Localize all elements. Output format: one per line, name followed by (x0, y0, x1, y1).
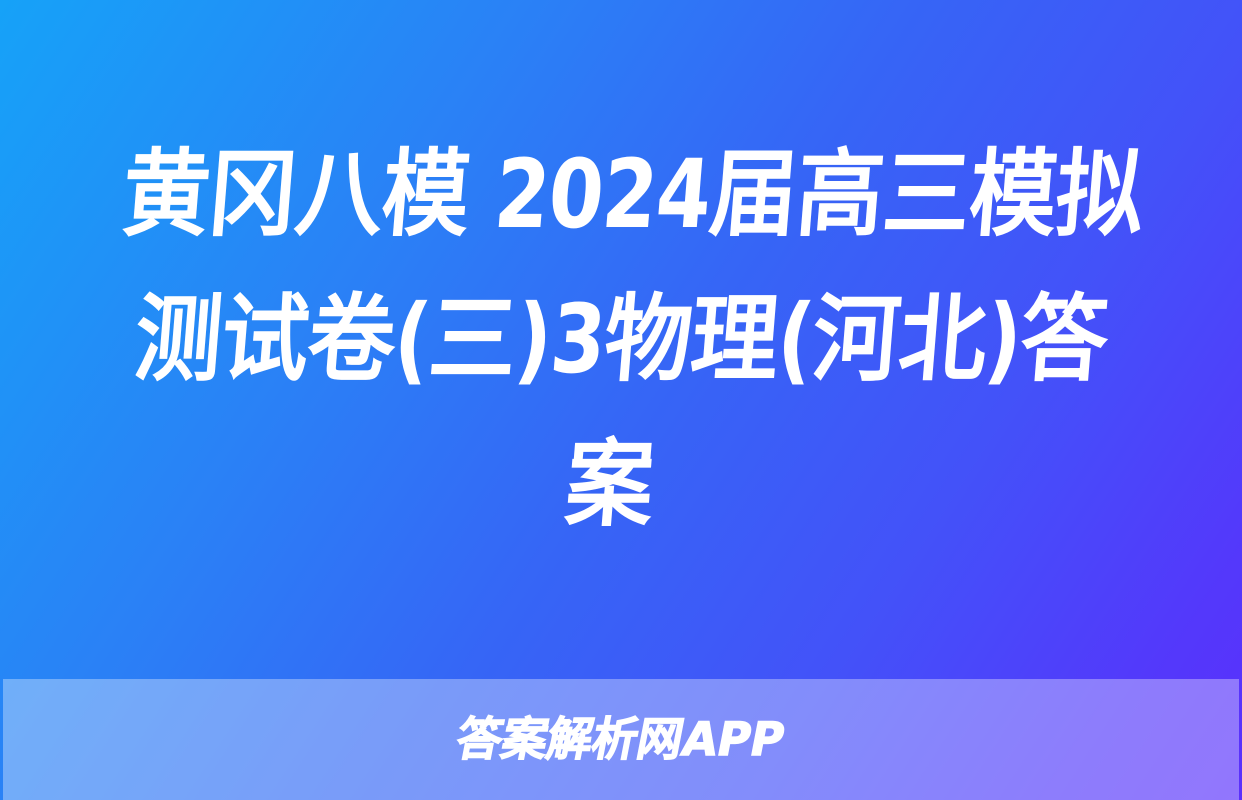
promo-card: 黄冈八模 2024届高三模拟测试卷(三)3物理(河北)答案 答案解析网APP (0, 0, 1242, 800)
title-area: 黄冈八模 2024届高三模拟测试卷(三)3物理(河北)答案 (0, 0, 1242, 680)
page-title: 黄冈八模 2024届高三模拟测试卷(三)3物理(河北)答案 (89, 123, 1153, 558)
app-watermark: 答案解析网APP (453, 716, 789, 764)
watermark-band: 答案解析网APP (3, 679, 1239, 800)
